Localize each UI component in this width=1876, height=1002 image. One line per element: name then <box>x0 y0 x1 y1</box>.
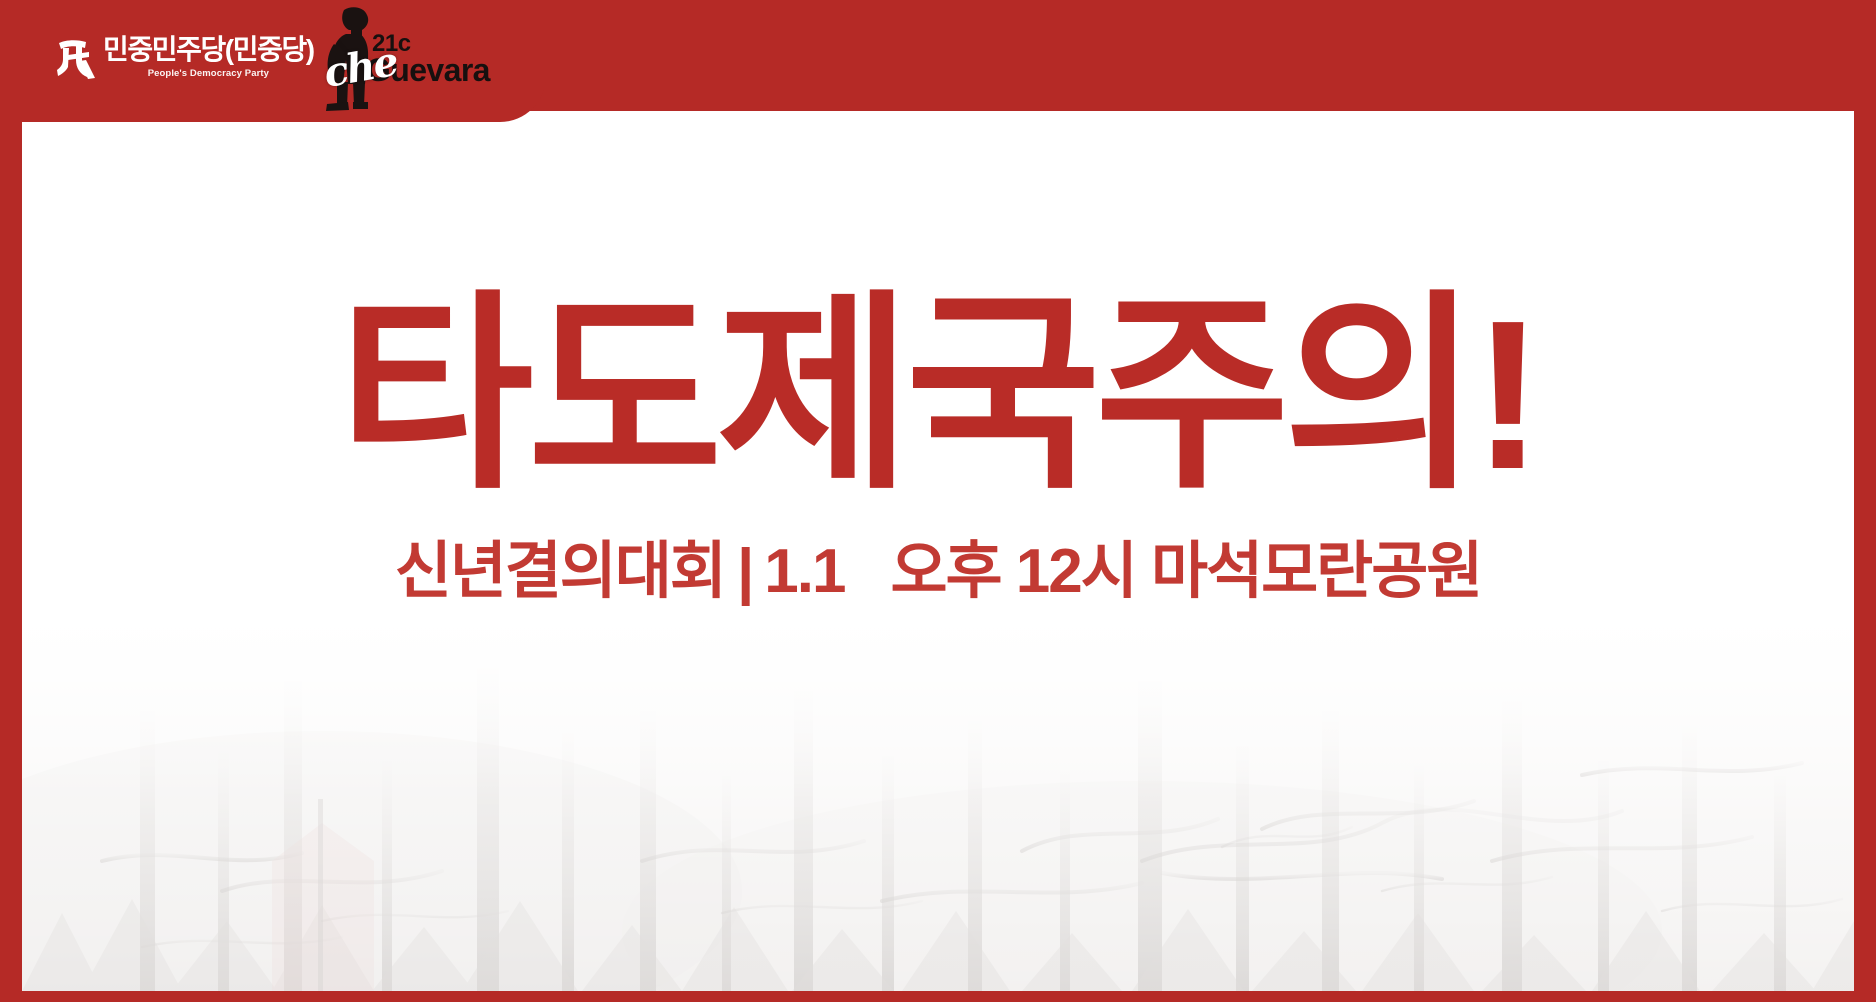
event-name: 신년결의대회 <box>395 537 725 606</box>
forest-photo <box>22 561 1854 991</box>
party-name-english: People's Democracy Party <box>103 68 314 79</box>
che-guevara-logo: 21c Guevara che <box>300 4 500 114</box>
event-date: 1.1 <box>764 537 844 606</box>
event-place: 마석모란공원 <box>1151 537 1481 606</box>
party-name: 민중민주당(민중당) <box>103 35 314 64</box>
party-logo: 민중민주당(민중당) People's Democracy Party <box>56 26 286 88</box>
party-text-block: 민중민주당(민중당) People's Democracy Party <box>103 35 314 78</box>
logo-tab: 민중민주당(민중당) People's Democracy Party <box>0 0 546 122</box>
poster-canvas: 타도제국주의! 신년결의대회|1.1오후 12시 마석모란공원 <box>22 111 1854 991</box>
event-time: 오후 12시 <box>891 537 1136 606</box>
poster-root: 타도제국주의! 신년결의대회|1.1오후 12시 마석모란공원 <box>0 0 1876 1002</box>
party-emblem-icon <box>56 35 96 79</box>
che-logo-script: che <box>321 42 400 94</box>
event-separator: | <box>725 537 764 606</box>
page-title: 타도제국주의! <box>22 289 1854 501</box>
event-details-line: 신년결의대회|1.1오후 12시 마석모란공원 <box>22 541 1854 603</box>
